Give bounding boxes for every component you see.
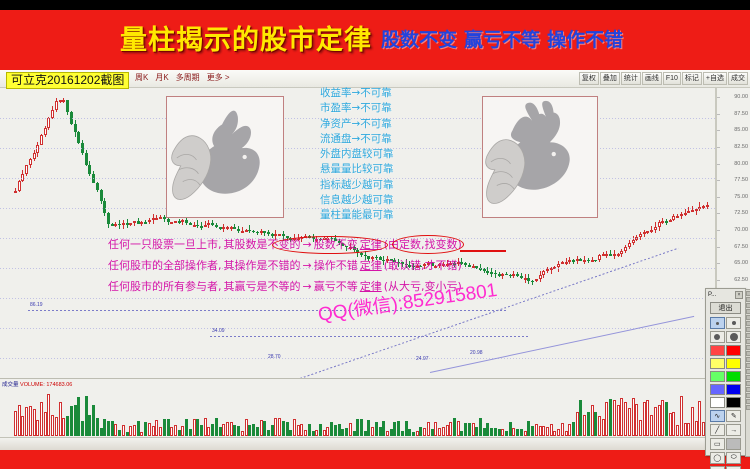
volume-bar (602, 419, 605, 436)
volume-bar (587, 412, 590, 436)
magenta-row-1-circled: 操作不错 (314, 259, 358, 272)
color-swatch-4-1[interactable] (726, 397, 741, 408)
candle-body (583, 260, 586, 262)
volume-bar (178, 430, 181, 436)
rect-icon[interactable]: ▭ (710, 438, 725, 450)
candle-body (200, 226, 203, 228)
volume-bar (550, 424, 553, 436)
candle-body (624, 247, 627, 251)
palette-title: P... (708, 292, 716, 298)
color-swatch-0-0[interactable] (710, 345, 725, 356)
volume-bar (107, 421, 110, 436)
volume-bar (427, 422, 430, 436)
cyan-line-8: 量柱量能最可靠 (320, 208, 470, 223)
candle-body (468, 265, 471, 267)
candle-body (36, 145, 39, 154)
volume-header: 成交量 VOLUME: 174683.06 (2, 380, 72, 388)
toolbar-right-buttons: 复权 叠加 统计 画线 F10 标记 +自选 成交 (579, 72, 748, 85)
candle-body (639, 234, 642, 237)
candle-body (661, 221, 664, 223)
cyan-line-5: 悬量量比较可靠 (320, 162, 470, 177)
volume-bar (579, 400, 582, 436)
magenta-row-2-lead: 任何股市的所有参与者, (108, 280, 222, 293)
candle-body (111, 224, 114, 226)
goat-shadow-svg (483, 97, 597, 217)
candle-body (501, 274, 504, 276)
price-tag-4: 20.98 (470, 350, 483, 356)
candle-body (512, 274, 515, 276)
volume-bar (371, 427, 374, 436)
cyan-line-0: 收益率→不可靠 (320, 86, 470, 101)
volume-bar (304, 430, 307, 436)
volume-bar (658, 405, 661, 436)
volume-bar (18, 405, 21, 436)
candle-body (557, 264, 560, 268)
arrow-icon[interactable]: → (726, 424, 741, 436)
volume-bar (572, 422, 575, 436)
candle-body (602, 254, 605, 256)
cyan-line-3: 流通盘→不可靠 (320, 132, 470, 147)
price-tickmark-6 (717, 197, 720, 198)
volume-bar (189, 429, 192, 436)
color-swatch-0-1[interactable] (726, 345, 741, 356)
tab-more[interactable]: 更多 > (207, 73, 230, 83)
volume-bar (140, 432, 143, 436)
red-underline (460, 250, 506, 252)
price-tag-0: 86.19 (30, 302, 43, 308)
volume-bar (591, 405, 594, 436)
volume-bar (594, 412, 597, 436)
volume-bar (256, 427, 259, 436)
volume-bar (167, 419, 170, 436)
magenta-row-1-paren: (敢认错,才不错) (384, 259, 462, 272)
candle-body (96, 183, 99, 190)
candle-body (167, 219, 170, 222)
candle-body (256, 232, 259, 234)
button-statistics[interactable]: 统计 (621, 72, 641, 85)
candle-body (620, 251, 623, 254)
volume-bars (0, 390, 716, 436)
volume-bar (527, 421, 530, 437)
volume-bar (300, 424, 303, 436)
color-swatch-4-0[interactable] (710, 397, 725, 408)
volume-bar (583, 415, 586, 436)
banner-sub-part-2: 操作不错 (547, 30, 623, 51)
volume-bar (230, 422, 233, 436)
screenshot-root: 量柱揭示的股市定律 股数不变赢亏不等操作不错 日线 周K 月K 多周期 更多 >… (0, 0, 750, 469)
candle-body (122, 223, 125, 225)
volume-bar (479, 418, 482, 436)
top-black-bar (0, 0, 750, 10)
volume-bar (170, 427, 173, 436)
candle-body (676, 216, 679, 218)
candle-body (237, 229, 240, 231)
color-swatch-1-1[interactable] (726, 358, 741, 369)
volume-bar (453, 418, 456, 436)
volume-bar (114, 424, 117, 436)
volume-bar (289, 430, 292, 436)
volume-bar (512, 428, 515, 436)
candle-body (524, 278, 527, 280)
candle-body (196, 225, 199, 227)
candle-body (44, 128, 47, 135)
magenta-row-2-arrow: → (303, 280, 312, 293)
volume-bar (643, 402, 646, 436)
button-overlay[interactable]: 叠加 (600, 72, 620, 85)
volume-bar (47, 394, 50, 436)
candle-body (29, 159, 32, 165)
price-tick-5: 77.50 (734, 177, 748, 183)
volume-bar (29, 406, 32, 436)
candle-body (155, 218, 158, 220)
volume-bar (520, 429, 523, 436)
candle-body (159, 217, 162, 219)
price-tickmark-7 (717, 213, 720, 214)
volume-bar (416, 431, 419, 436)
volume-bar (598, 416, 601, 436)
candle-body (126, 223, 129, 225)
volume-bar (96, 418, 99, 436)
candle-body (531, 281, 534, 283)
volume-bar (353, 431, 356, 436)
volume-bar (248, 425, 251, 436)
volume-bar (204, 418, 207, 436)
candle-body (665, 221, 668, 223)
volume-bar (609, 399, 612, 436)
candle-body (561, 262, 564, 264)
volume-bar (152, 426, 155, 436)
volume-bar (196, 419, 199, 436)
price-tick-10: 65.00 (734, 260, 748, 266)
volume-bar (680, 396, 683, 436)
volume-bar (386, 431, 389, 436)
chart-trendline-1 (210, 336, 530, 337)
volume-bar (654, 407, 657, 436)
volume-bar (118, 430, 121, 436)
price-tickmark-1 (717, 114, 720, 115)
button-mark[interactable]: 标记 (682, 72, 702, 85)
volume-bar (617, 405, 620, 436)
volume-bar (483, 428, 486, 436)
volume-bar (457, 421, 460, 436)
volume-bar (40, 402, 43, 436)
candle-body (51, 110, 54, 118)
volume-bar (509, 422, 512, 436)
candle-body (539, 275, 542, 279)
volume-bar (695, 421, 698, 436)
volume-bar (676, 425, 679, 436)
candle-body (646, 231, 649, 233)
candle-body (520, 276, 523, 278)
line-icon[interactable]: ╱ (710, 424, 725, 436)
pencil-icon[interactable]: ✎ (726, 410, 741, 422)
candle-body (669, 220, 672, 222)
volume-bar (233, 425, 236, 436)
drawing-palette-panel[interactable]: P... × 退出 ∿ ✎ ╱ → ▭ ◯ ⬭ ↔ (705, 288, 746, 456)
volume-bar (691, 407, 694, 436)
candle-body (241, 231, 244, 233)
volume-bar (245, 419, 248, 436)
candle-body (85, 153, 88, 164)
volume-bar (215, 418, 218, 436)
magenta-row-1-law: 定律 (360, 259, 382, 272)
volume-bar (129, 426, 132, 436)
candle-body (74, 124, 77, 132)
volume-bar (14, 411, 17, 436)
volume-bar (405, 421, 408, 436)
volume-bar (308, 424, 311, 436)
candle-body (59, 100, 62, 102)
candle-body (181, 220, 184, 222)
candle-body (178, 221, 181, 223)
volume-bar (44, 412, 47, 436)
volume-bar (163, 419, 166, 436)
rabbit-shadow-svg (167, 97, 283, 217)
volume-bar (271, 425, 274, 436)
magenta-row-1-mid: 其操作是不错的 (224, 259, 301, 272)
volume-bar (684, 423, 687, 437)
candle-body (252, 231, 255, 233)
curve-icon[interactable]: ∿ (710, 410, 725, 422)
price-tickmark-3 (717, 147, 720, 148)
volume-bar (62, 418, 65, 436)
candle-body (211, 223, 214, 225)
volume-bar (144, 422, 147, 436)
fillrect-icon[interactable] (726, 438, 741, 450)
price-tick-8: 70.00 (734, 227, 748, 233)
candle-body (672, 216, 675, 219)
button-trade[interactable]: 成交 (728, 72, 748, 85)
color-swatch-3-1[interactable] (726, 384, 741, 395)
candle-body (137, 221, 140, 223)
volume-bar (274, 418, 277, 436)
volume-bar (375, 422, 378, 436)
candle-body (62, 100, 65, 102)
candle-body (174, 221, 177, 223)
volume-bar (25, 407, 28, 436)
price-tick-4: 80.00 (734, 161, 748, 167)
candle-body (77, 132, 80, 143)
volume-bar (252, 424, 255, 436)
volume-bar (81, 421, 84, 436)
price-tick-3: 82.50 (734, 144, 748, 150)
price-tickmark-9 (717, 247, 720, 248)
price-tickmark-2 (717, 130, 720, 131)
magenta-row-1-arrow: → (303, 259, 312, 272)
button-fuquan[interactable]: 复权 (579, 72, 599, 85)
ellipse-icon[interactable]: ◯ (710, 452, 725, 464)
candle-body (565, 262, 568, 264)
candle-body (706, 205, 709, 207)
candle-body (245, 230, 248, 232)
candle-body (546, 269, 549, 271)
volume-bar (74, 405, 77, 436)
volume-header-value: VOLUME: 174683.06 (20, 382, 72, 388)
candle-body (535, 279, 538, 281)
dot-size-medium-icon[interactable] (726, 317, 741, 329)
candle-body (207, 223, 210, 225)
candle-body (226, 227, 229, 229)
candle-body (107, 213, 110, 224)
volume-bar (628, 408, 631, 436)
dot-size-xlarge-icon[interactable] (726, 331, 741, 343)
palette-tool-row-5: ↔ A (706, 465, 745, 469)
candle-body (609, 254, 612, 256)
candle-body (129, 223, 132, 225)
candle-body (170, 222, 173, 224)
candle-body (114, 224, 117, 226)
button-f10[interactable]: F10 (663, 72, 681, 85)
volume-bar (442, 427, 445, 436)
volume-bar (498, 429, 501, 436)
fillellipse-icon[interactable]: ⬭ (726, 452, 741, 464)
candle-body (267, 232, 270, 234)
candle-body (605, 254, 608, 256)
volume-bar (687, 423, 690, 436)
price-tag-2: 28.70 (268, 354, 281, 360)
candle-body (360, 253, 363, 255)
tab-monthly[interactable]: 月K (155, 73, 168, 83)
magenta-row-1: 任何股市的全部操作者,其操作是不错的→操作不错定律(敢认错,才不错) (108, 257, 464, 273)
volume-bar (557, 429, 560, 436)
dot-size-large-icon[interactable] (710, 331, 725, 343)
volume-bar (635, 404, 638, 436)
volume-bar (77, 397, 80, 436)
candle-body (55, 101, 58, 110)
volume-bar (620, 398, 623, 436)
magenta-row-1-lead: 任何股市的全部操作者, (108, 259, 222, 272)
color-swatch-3-0[interactable] (710, 384, 725, 395)
volume-bar (326, 427, 329, 436)
palette-tool-row-2: ╱ → (706, 423, 745, 437)
candle-body (650, 230, 653, 232)
candle-body (680, 214, 683, 216)
volume-bar (576, 412, 579, 436)
volume-bar (349, 423, 352, 436)
color-swatch-grid (706, 344, 745, 409)
volume-bar (315, 430, 318, 436)
volume-bar (103, 419, 106, 436)
magenta-row-2-mid: 其赢亏是不等的 (224, 280, 301, 293)
volume-bar (59, 402, 62, 436)
volume-bar (605, 402, 608, 436)
button-drawline[interactable]: 画线 (642, 72, 662, 85)
volume-bar (524, 431, 527, 436)
candle-body (14, 191, 17, 193)
volume-bar (137, 421, 140, 436)
color-swatch-1-0[interactable] (710, 358, 725, 369)
magenta-row-2-circled: 赢亏不等 (314, 280, 358, 293)
volume-bar (486, 423, 489, 436)
candle-body (185, 220, 188, 223)
volume-panel[interactable]: 成交量 VOLUME: 174683.06 (0, 378, 716, 444)
price-tick-0: 90.00 (734, 94, 748, 100)
candle-body (66, 100, 69, 111)
candle-body (587, 260, 590, 262)
volume-bar (21, 416, 24, 436)
price-tag-3: 24.97 (416, 356, 429, 362)
candle-body (579, 259, 582, 261)
palette-tool-row-1: ∿ ✎ (706, 409, 745, 423)
screenshot-label: 可立克20161202截图 (6, 72, 129, 89)
price-tag-1: 34.09 (212, 328, 225, 334)
volume-bar (494, 428, 497, 436)
candle-body (140, 222, 143, 224)
price-tick-6: 75.00 (734, 194, 748, 200)
candle-body (691, 210, 694, 212)
color-swatch-2-1[interactable] (726, 371, 741, 382)
tab-weekly[interactable]: 周K (135, 73, 148, 83)
swatch-row-1 (706, 357, 745, 370)
tab-multiperiod[interactable]: 多周期 (176, 73, 200, 83)
candle-body (148, 220, 151, 222)
volume-bar (200, 425, 203, 436)
candle-body (576, 259, 579, 261)
candle-body (248, 230, 251, 232)
price-tickmark-11 (717, 280, 720, 281)
price-tick-11: 62.50 (734, 277, 748, 283)
price-tickmark-0 (717, 97, 720, 98)
volume-bar (661, 400, 664, 436)
palette-exit-button[interactable]: 退出 (710, 302, 741, 314)
volume-bar (286, 422, 289, 436)
volume-bar (412, 432, 415, 436)
cyan-line-1: 市盈率→不可靠 (320, 101, 470, 116)
volume-header-label: 成交量 (2, 382, 19, 388)
price-tick-9: 67.50 (734, 244, 748, 250)
price-tickmark-10 (717, 263, 720, 264)
dot-size-small-icon[interactable] (710, 317, 725, 329)
volume-bar (100, 428, 103, 436)
candle-body (498, 274, 501, 276)
volume-bar (360, 419, 363, 436)
candle-body (684, 213, 687, 215)
candle-body (189, 223, 192, 225)
volume-bar (345, 428, 348, 436)
color-swatch-2-0[interactable] (710, 371, 725, 382)
cyan-annotation-list: 收益率→不可靠市盈率→不可靠净资产→不可靠流通盘→不可靠外盘内盘较可靠悬量量比较… (320, 86, 470, 224)
volume-bar (260, 420, 263, 436)
volume-bar (468, 423, 471, 436)
price-tick-1: 87.50 (734, 111, 748, 117)
volume-bar (88, 415, 91, 436)
candle-body (505, 274, 508, 276)
candle-body (628, 243, 631, 247)
cyan-line-4: 外盘内盘较可靠 (320, 147, 470, 162)
volume-bar (397, 421, 400, 436)
volume-bar (36, 420, 39, 436)
volume-bar (85, 396, 88, 436)
price-tick-7: 72.50 (734, 210, 748, 216)
volume-bar (330, 422, 333, 436)
candle-body (527, 278, 530, 281)
volume-bar (334, 425, 337, 436)
cyan-line-6: 指标越少越可靠 (320, 178, 470, 193)
volume-bar (364, 431, 367, 436)
candle-body (193, 225, 196, 227)
candle-body (572, 260, 575, 262)
bottom-red-bar (0, 450, 750, 469)
close-icon[interactable]: × (735, 291, 743, 299)
candle-body (509, 275, 512, 277)
volume-bar (665, 402, 668, 436)
palette-scrollbar[interactable] (745, 289, 750, 457)
volume-bar (211, 424, 214, 436)
volume-bar (356, 419, 359, 436)
button-add-watchlist[interactable]: +自选 (703, 72, 727, 85)
volume-bar (505, 431, 508, 436)
candle-body (47, 118, 50, 128)
